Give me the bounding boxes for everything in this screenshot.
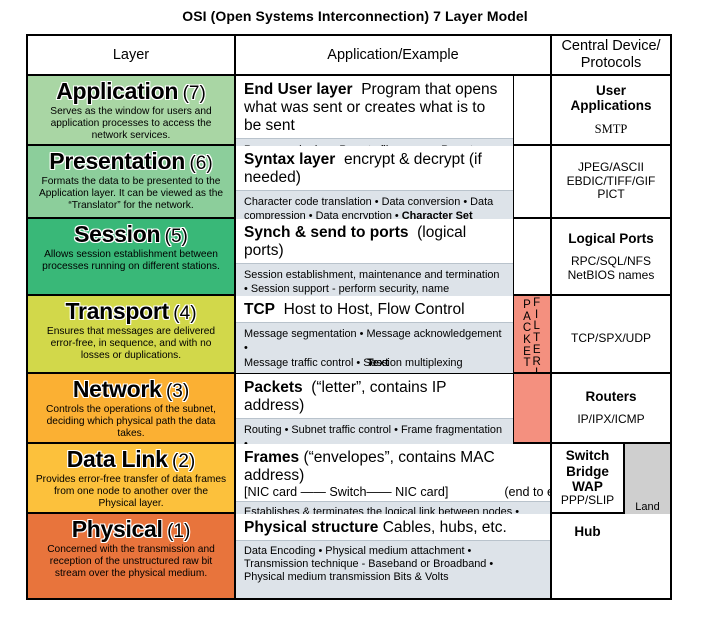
packet-filtering-word-filtering-cont <box>533 374 536 442</box>
device-primary-physical: Hub <box>574 524 600 539</box>
packet-filtering-word-filtering: FILTERING <box>532 296 541 372</box>
packet-filtering-spacer-presentation <box>513 146 550 217</box>
application-headline-physical: Physical structure Cables, hubs, etc. <box>236 514 550 540</box>
application-headline-session: Synch & send to ports (logical ports) <box>236 219 513 263</box>
application-cell-transport: TCP Host to Host, Flow Control Message s… <box>236 296 552 372</box>
application-detail-physical-line1: Data Encoding • Physical medium attachme… <box>244 545 543 558</box>
column-header-device-line1: Central Device/ <box>561 38 660 55</box>
application-detail-physical-line2: Transmission technique - Baseband or Bro… <box>244 558 543 571</box>
layer-cell-datalink: Data Link (2) Provides error-free transf… <box>28 444 236 512</box>
application-headline-datalink: Frames (“envelopes”, contains MAC addres… <box>236 444 550 485</box>
osi-table: Layer Application/Example Central Device… <box>26 34 672 600</box>
application-cell-network: Packets (“letter”, contains IP address) … <box>236 374 552 442</box>
column-header-device-line2: Protocols <box>561 55 660 72</box>
application-detail-transport-line2-post: multiplexing <box>405 357 463 369</box>
layer-name-transport: Transport (4) <box>28 296 234 325</box>
application-subline-datalink-left: [NIC card —— Switch—— NIC card] <box>244 485 448 499</box>
layer-row-application: Application (7) Serves as the window for… <box>28 76 670 146</box>
device-cell-datalink: Switch Bridge WAP PPP/SLIP Land Based La… <box>552 444 670 512</box>
layer-description-network: Controls the operations of the subnet, d… <box>28 403 234 443</box>
layer-description-datalink: Provides error-free transfer of data fra… <box>28 473 234 513</box>
layer-row-physical: Physical (1) Concerned with the transmis… <box>28 514 670 598</box>
device-cell-presentation: JPEG/ASCII EBDIC/TIFF/GIF PICT <box>552 146 670 217</box>
layer-description-application: Serves as the window for users and appli… <box>28 105 234 145</box>
application-detail-physical: Data Encoding • Physical medium attachme… <box>236 540 550 598</box>
layer-name-application: Application (7) <box>28 76 234 105</box>
packet-filtering-band-continued <box>513 374 550 442</box>
device-primary-session: Logical Ports <box>568 231 654 246</box>
device-cell-transport: TCP/SPX/UDP <box>552 296 670 372</box>
application-cell-presentation: Syntax layer encrypt & decrypt (if neede… <box>236 146 552 217</box>
application-headline-presentation: Syntax layer encrypt & decrypt (if neede… <box>236 146 513 190</box>
packet-filtering-word-packet: PACKET <box>523 298 531 370</box>
application-detail-transport: Message segmentation • Message acknowled… <box>236 322 513 373</box>
layer-name-datalink: Data Link (2) <box>28 444 234 473</box>
device-cell-application: UserApplications SMTP <box>552 76 670 144</box>
layer-name-session: Session (5) <box>28 219 234 248</box>
layer-name-presentation: Presentation (6) <box>28 146 234 175</box>
device-cell-network: Routers IP/IPX/ICMP <box>552 374 670 442</box>
device-protocol-application: SMTP <box>595 122 628 136</box>
packet-filtering-band: PACKET FILTERING <box>513 296 550 372</box>
column-header-device: Central Device/ Protocols <box>552 36 670 74</box>
stray-text-overlap: Text <box>367 356 389 370</box>
layer-row-datalink: Data Link (2) Provides error-free transf… <box>28 444 670 514</box>
layer-row-session: Session (5) Allows session establishment… <box>28 219 670 296</box>
packet-filtering-spacer-application <box>513 76 550 144</box>
application-cell-session: Synch & send to ports (logical ports) Se… <box>236 219 552 294</box>
layer-cell-application: Application (7) Serves as the window for… <box>28 76 236 144</box>
device-protocol-transport: TCP/SPX/UDP <box>571 332 651 346</box>
layer-description-physical: Concerned with the transmission and rece… <box>28 543 234 583</box>
application-headline-network: Packets (“letter”, contains IP address) <box>236 374 513 418</box>
application-detail-transport-line1: Message segmentation • Message acknowled… <box>244 327 506 356</box>
application-headline-application: End User layer Program that opens what w… <box>236 76 513 138</box>
layer-description-transport: Ensures that messages are delivered erro… <box>28 325 234 365</box>
device-protocol-datalink: PPP/SLIP <box>561 494 614 508</box>
layer-cell-presentation: Presentation (6) Formats the data to be … <box>28 146 236 217</box>
layer-cell-network: Network (3) Controls the operations of t… <box>28 374 236 442</box>
application-cell-physical: Physical structure Cables, hubs, etc. Da… <box>236 514 552 598</box>
table-header-row: Layer Application/Example Central Device… <box>28 36 670 76</box>
layer-cell-physical: Physical (1) Concerned with the transmis… <box>28 514 236 598</box>
layer-name-physical: Physical (1) <box>28 514 234 543</box>
device-primary-datalink: Switch Bridge WAP <box>566 448 610 493</box>
column-header-application: Application/Example <box>236 36 552 74</box>
layer-name-network: Network (3) <box>28 374 234 403</box>
device-protocol-network: IP/IPX/ICMP <box>577 413 644 427</box>
application-detail-physical-line3: Physical medium transmission Bits & Volt… <box>244 571 543 584</box>
application-cell-application: End User layer Program that opens what w… <box>236 76 552 144</box>
layer-description-presentation: Formats the data to be presented to the … <box>28 175 234 215</box>
layer-cell-transport: Transport (4) Ensures that messages are … <box>28 296 236 372</box>
packet-filtering-spacer-session <box>513 219 550 294</box>
page-title: OSI (Open Systems Interconnection) 7 Lay… <box>0 8 710 24</box>
application-headline-transport: TCP Host to Host, Flow Control <box>236 296 513 322</box>
application-cell-datalink: Frames (“envelopes”, contains MAC addres… <box>236 444 552 512</box>
device-cell-session: Logical Ports RPC/SQL/NFS NetBIOS names <box>552 219 670 294</box>
layer-description-session: Allows session establishment between pro… <box>28 248 234 276</box>
layer-cell-session: Session (5) Allows session establishment… <box>28 219 236 294</box>
device-protocol-session: RPC/SQL/NFS NetBIOS names <box>568 255 655 283</box>
layer-row-presentation: Presentation (6) Formats the data to be … <box>28 146 670 219</box>
application-subline-datalink: [NIC card —— Switch—— NIC card] (end to … <box>236 485 550 501</box>
packet-filtering-word-packet-cont <box>528 389 531 426</box>
device-cell-physical: Hub <box>552 514 670 598</box>
layer-row-network: Network (3) Controls the operations of t… <box>28 374 670 444</box>
column-header-layer: Layer <box>28 36 236 74</box>
osi-model-diagram: OSI (Open Systems Interconnection) 7 Lay… <box>0 0 710 619</box>
device-protocol-presentation: JPEG/ASCII EBDIC/TIFF/GIF PICT <box>567 161 656 202</box>
device-primary-application: UserApplications <box>570 83 651 113</box>
device-primary-network: Routers <box>585 389 636 404</box>
layer-row-transport: Transport (4) Ensures that messages are … <box>28 296 670 374</box>
